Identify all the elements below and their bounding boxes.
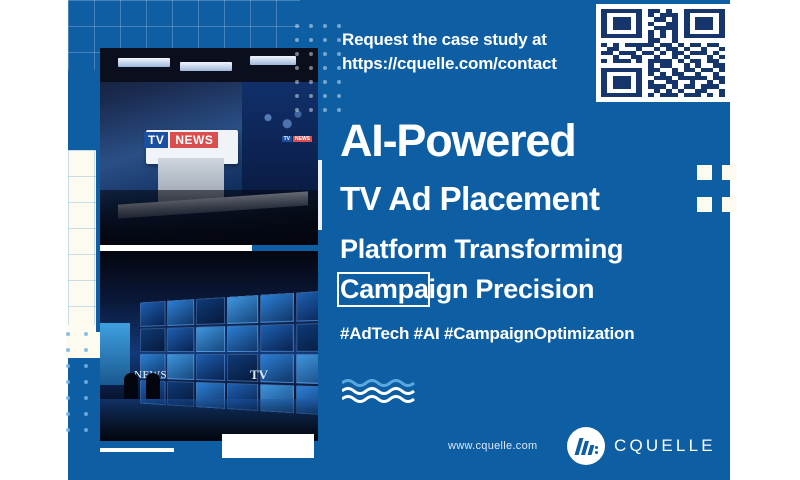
videowall-tv-label: TV	[250, 367, 268, 383]
brand-wordmark: CQUELLE	[614, 436, 716, 456]
badge-tv: TV	[144, 132, 168, 148]
dot-grid-top	[295, 24, 343, 116]
cream-square-4	[722, 197, 736, 212]
badge-news: NEWS	[170, 132, 218, 148]
headline-line-3: Platform Transforming	[340, 236, 623, 263]
cquelle-logo-icon	[567, 427, 605, 465]
vertical-accent-bar	[318, 160, 322, 230]
website-url[interactable]: www.cquelle.com	[448, 440, 537, 452]
brand-lockup[interactable]: CQUELLE	[567, 427, 716, 465]
mini-badge-tv: TV	[282, 136, 292, 142]
silhouette-2	[146, 373, 160, 399]
hashtags-text: #AdTech #AI #CampaignOptimization	[340, 324, 634, 344]
qr-matrix	[601, 9, 725, 97]
videowall-screen-grid	[140, 290, 318, 416]
cream-square-1	[697, 165, 712, 180]
silhouette-1	[124, 373, 138, 399]
mini-badge-news: NEWS	[293, 136, 312, 142]
studio-mini-badge: TV NEWS	[282, 136, 312, 142]
studio-light-1	[118, 58, 170, 67]
photo-video-wall: NEWS TV	[100, 251, 318, 441]
studio-light-3	[250, 56, 296, 65]
cream-square-3	[697, 197, 712, 212]
studio-floor-reflection	[100, 190, 318, 245]
headline-line-1: AI-Powered	[340, 118, 576, 163]
wave-decoration-icon	[342, 378, 420, 404]
dot-grid-bottom-left	[66, 332, 100, 444]
headline-highlight-box	[337, 272, 430, 307]
cream-grid-sliver	[68, 150, 96, 325]
kicker-line-2[interactable]: https://cquelle.com/contact	[342, 52, 598, 76]
poster-canvas: TV NEWS TV NEWS NEWS TV	[0, 0, 800, 480]
kicker-line-1: Request the case study at	[342, 28, 598, 52]
qr-code[interactable]	[596, 4, 730, 102]
cream-square-2	[722, 165, 736, 180]
white-block-bottom	[222, 434, 314, 458]
kicker-text: Request the case study at https://cquell…	[342, 28, 598, 76]
horizontal-accent-bar	[100, 448, 174, 452]
headline-line-2: TV Ad Placement	[340, 182, 599, 215]
studio-light-2	[180, 62, 232, 71]
photo-news-studio: TV NEWS TV NEWS	[100, 48, 318, 245]
studio-news-badge: TV NEWS	[144, 132, 218, 148]
